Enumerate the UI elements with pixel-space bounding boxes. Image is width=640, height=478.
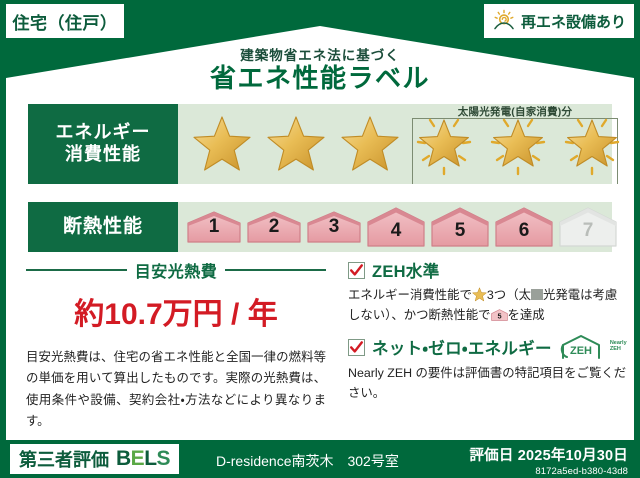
insulation-level-7: 7 xyxy=(558,206,618,248)
energy-star xyxy=(260,108,332,180)
net-zero-energy-heading: ネット・ゼロ・エネルギー ZEH Nearly ZEH xyxy=(348,334,628,360)
zeh-text-part-d: を達成 xyxy=(508,308,545,322)
insulation-level-5: 5 xyxy=(430,206,490,248)
energy-cost-section: 目安光熱費 約10.7万円 / 年 目安光熱費は、住宅の省エネ性能と全国一律の燃… xyxy=(26,258,326,432)
svg-text:5: 5 xyxy=(497,312,501,321)
bels-certification-logo: 第三者評価 BELS xyxy=(10,444,179,474)
energy-cost-value: 約10.7万円 / 年 xyxy=(26,289,326,333)
sun-solar-icon xyxy=(492,9,516,33)
zeh-text-part-a: エネルギー消費性能で xyxy=(348,288,472,302)
energy-star-rating xyxy=(186,104,628,184)
zeh-house-logo-icon: ZEH xyxy=(559,334,603,360)
house-type-tag: 住宅（住戸） xyxy=(6,4,124,38)
energy-star xyxy=(334,108,406,180)
insulation-level-2: 2 xyxy=(246,210,302,244)
redacted-block xyxy=(531,289,543,300)
insulation-level-scale: 1 2 3 4 xyxy=(186,202,618,252)
energy-star-solar xyxy=(408,108,480,180)
insulation-level-4: 4 xyxy=(366,206,426,248)
energy-cost-heading: 目安光熱費 xyxy=(26,258,326,282)
zeh-standard-block: ZEH水準 エネルギー消費性能で3つ（太光発電は考慮しない）、かつ断熱性能で5を… xyxy=(348,258,628,325)
renewable-equipment-badge: 再エネ設備あり xyxy=(484,4,634,38)
net-zero-energy-text: Nearly ZEH の要件は評価書の特記項目をご覧ください。 xyxy=(348,363,628,403)
zeh-standard-heading: ZEH水準 xyxy=(348,258,628,282)
zeh-logo-subtext: Nearly ZEH xyxy=(610,341,627,353)
evaluation-date: 評価日 2025年10月30日 xyxy=(469,444,628,465)
footer-band: 第三者評価 BELS D-residence南茨木 302号室 評価日 2025… xyxy=(0,440,640,478)
label-title: 省エネ性能ラベル xyxy=(0,58,640,95)
house-type-label: 住宅（住戸） xyxy=(13,9,118,34)
evaluation-info: 評価日 2025年10月30日 8172a5ed-b380-43d8 xyxy=(469,444,628,477)
insulation-level-6: 6 xyxy=(494,206,554,248)
svg-text:ZEH: ZEH xyxy=(570,345,592,357)
energy-performance-label: エネルギー 消費性能 xyxy=(28,104,178,184)
bels-wordmark: BELS xyxy=(116,447,170,471)
insulation-level-number: 5 xyxy=(430,220,490,242)
insulation-level-number: 3 xyxy=(306,216,362,238)
energy-performance-row: エネルギー 消費性能 太陽光発電(自家消費)分 xyxy=(28,104,612,184)
energy-cost-note: 目安光熱費は、住宅の省エネ性能と全国一律の燃料等の単価を用いて算出したものです。… xyxy=(26,347,326,432)
energy-star xyxy=(186,108,258,180)
inline-star-icon xyxy=(472,287,487,302)
building-name: D-residence南茨木 302号室 xyxy=(216,451,399,471)
insulation-level-3: 3 xyxy=(306,210,362,244)
insulation-level-number: 7 xyxy=(558,220,618,242)
evaluation-id: 8172a5ed-b380-43d8 xyxy=(469,466,628,477)
insulation-performance-row: 断熱性能 1 2 xyxy=(28,202,612,252)
renewable-equipment-label: 再エネ設備あり xyxy=(521,11,626,32)
net-zero-checkbox-icon xyxy=(348,339,365,356)
rule-left xyxy=(26,269,127,271)
insulation-level-number: 6 xyxy=(494,220,554,242)
insulation-level-1: 1 xyxy=(186,210,242,244)
zeh-standard-text: エネルギー消費性能で3つ（太光発電は考慮しない）、かつ断熱性能で5を達成 xyxy=(348,285,628,325)
rule-right xyxy=(225,269,326,271)
energy-star-solar xyxy=(556,108,628,180)
third-party-eval-label: 第三者評価 xyxy=(19,446,109,472)
energy-star-solar xyxy=(482,108,554,180)
zeh-text-part-b: 3つ（太 xyxy=(487,288,531,302)
inline-insulation-badge-icon: 5 xyxy=(491,307,508,323)
insulation-level-number: 2 xyxy=(246,216,302,238)
bels-energy-label: 住宅（住戸） 再エネ設備あり 建築物省エネ法に基づく 省エネ性能ラベル xyxy=(0,0,640,478)
zeh-section: ZEH水準 エネルギー消費性能で3つ（太光発電は考慮しない）、かつ断熱性能で5を… xyxy=(348,258,628,412)
zeh-standard-title: ZEH水準 xyxy=(372,258,440,282)
insulation-level-number: 4 xyxy=(366,220,426,242)
net-zero-energy-title: ネット・ゼロ・エネルギー xyxy=(372,335,552,359)
zeh-standard-checkbox-icon xyxy=(348,262,365,279)
net-zero-energy-block: ネット・ゼロ・エネルギー ZEH Nearly ZEH Nearly ZEH の… xyxy=(348,334,628,403)
insulation-performance-label: 断熱性能 xyxy=(28,202,178,252)
insulation-level-number: 1 xyxy=(186,216,242,238)
